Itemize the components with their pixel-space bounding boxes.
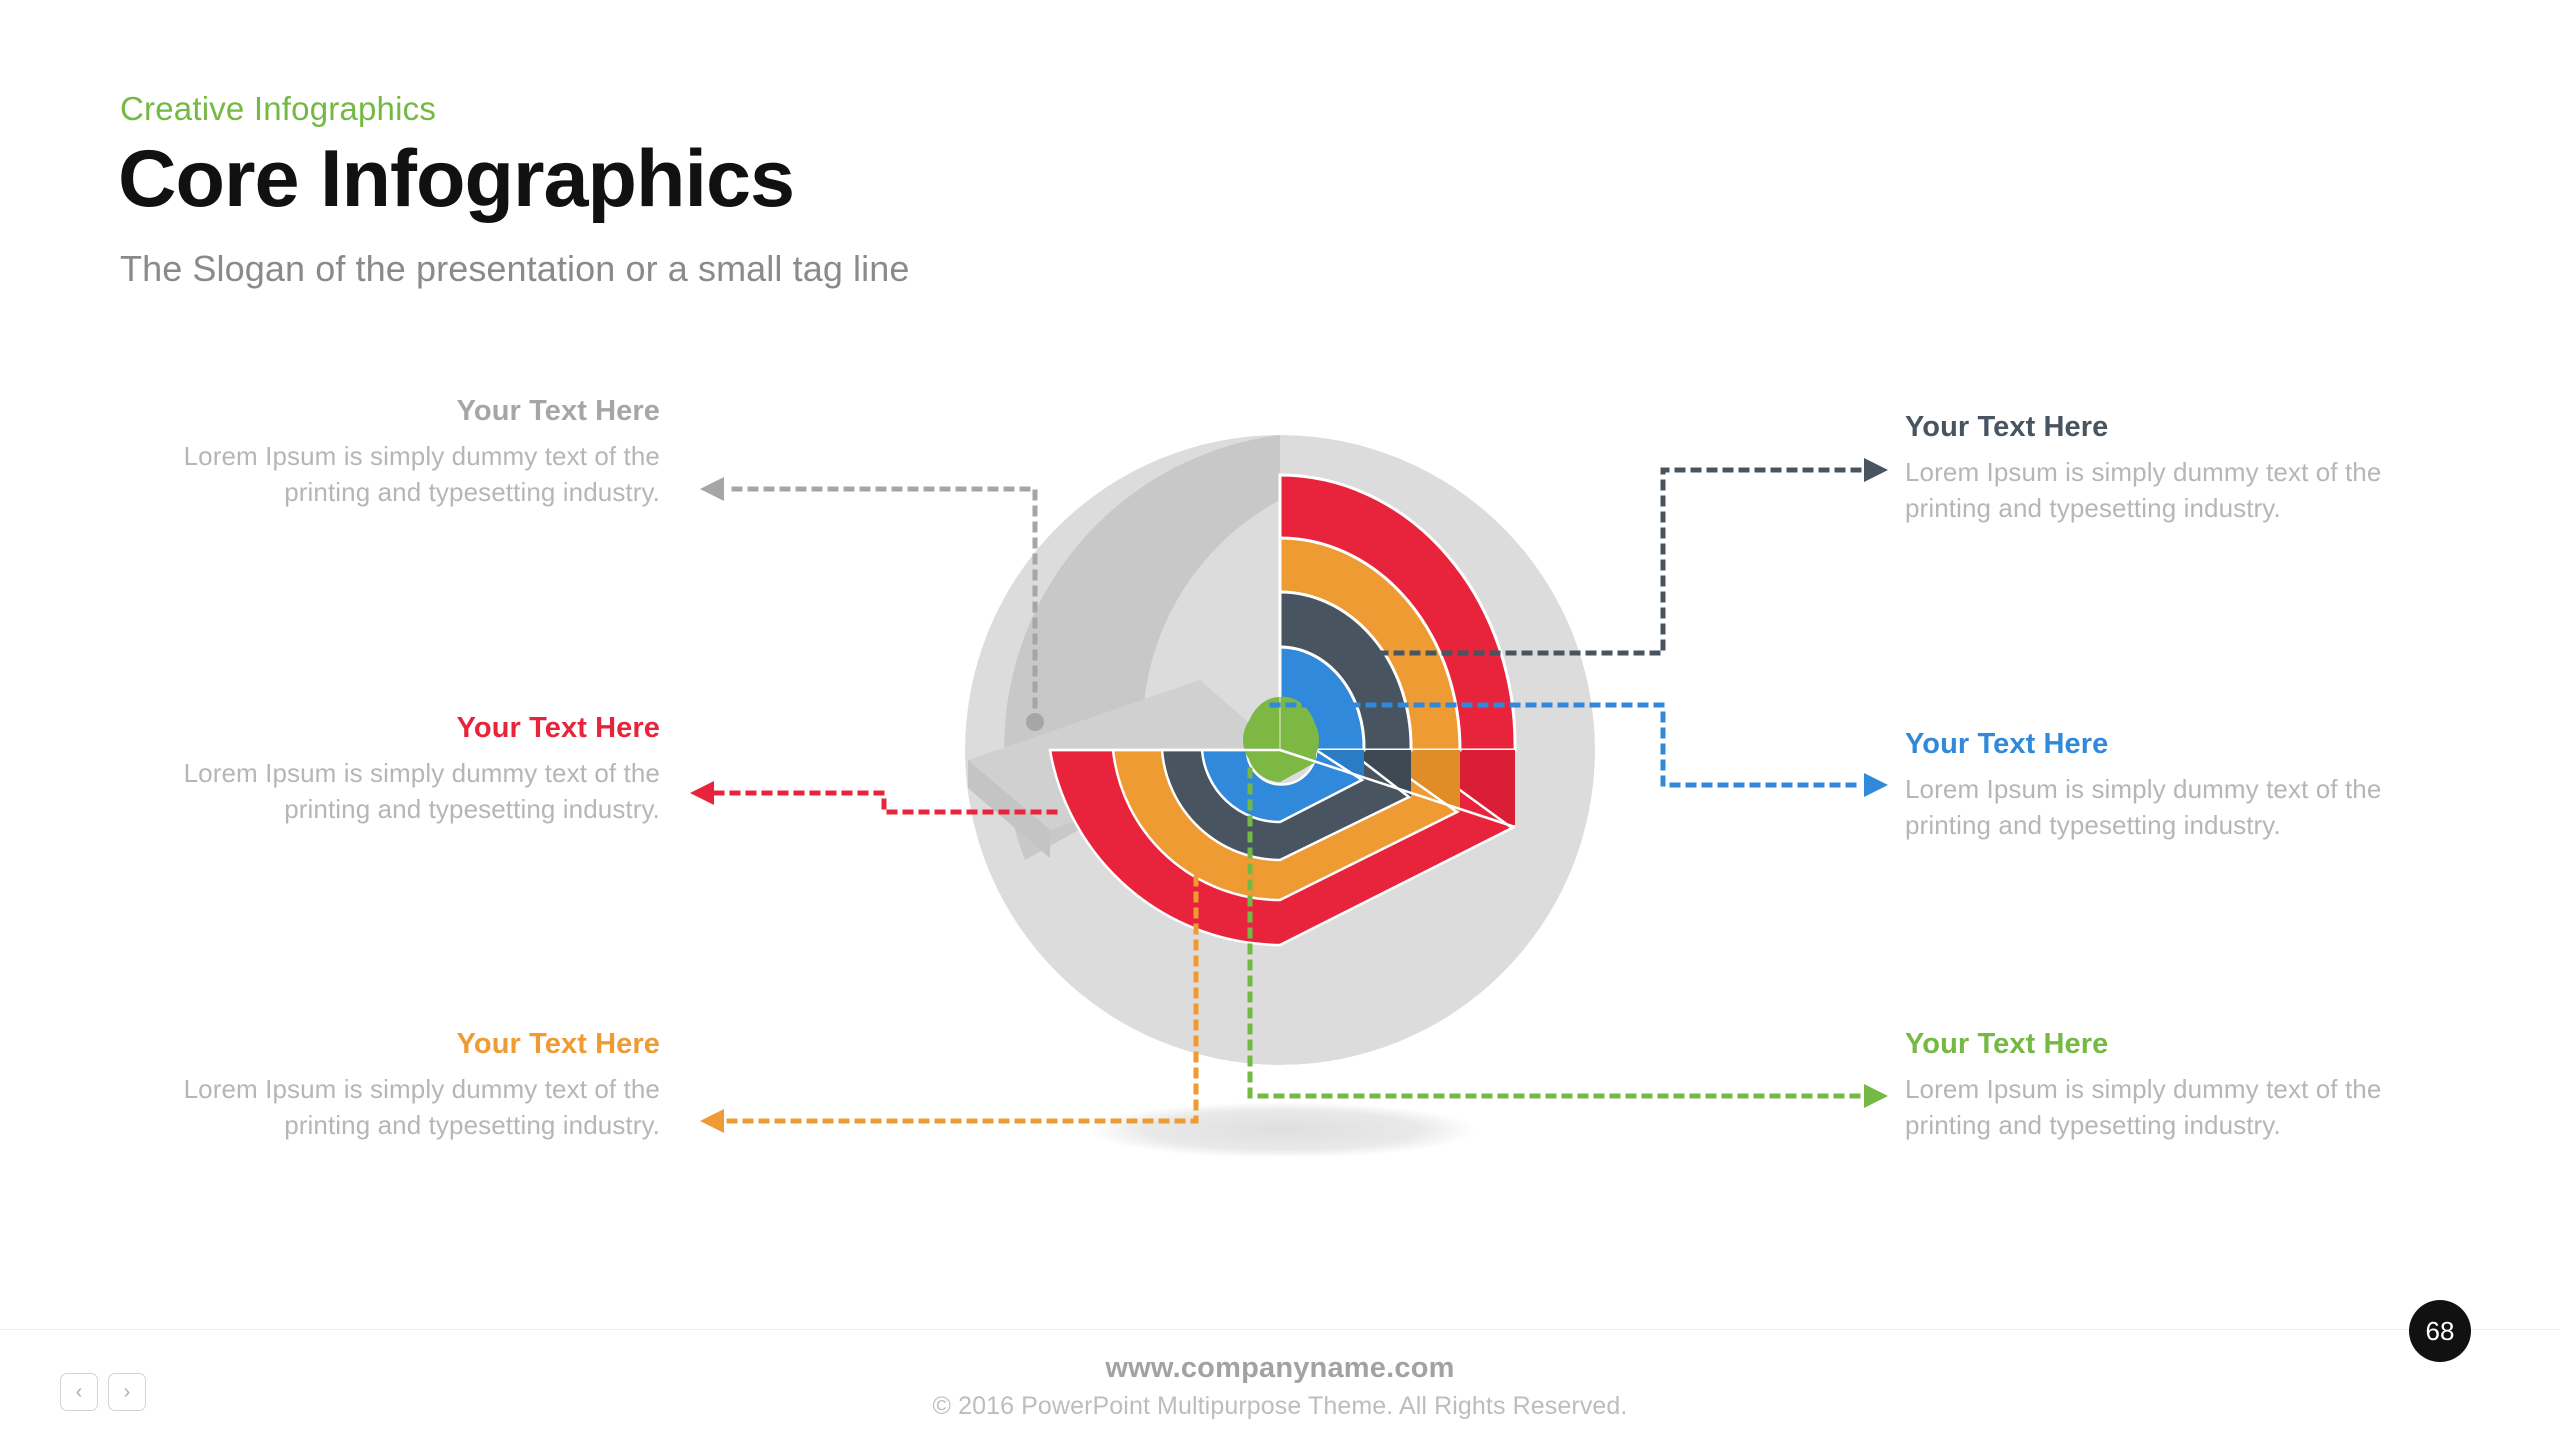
text-block-top-right: Your Text Here Lorem Ipsum is simply dum… (1905, 412, 2405, 526)
text-block-bottom-right: Your Text Here Lorem Ipsum is simply dum… (1905, 1029, 2405, 1143)
text-block-top-left: Your Text Here Lorem Ipsum is simply dum… (160, 396, 660, 510)
connector-top-right (1332, 458, 1888, 653)
block-body: Lorem Ipsum is simply dummy text of the … (160, 1072, 660, 1143)
text-block-middle-right: Your Text Here Lorem Ipsum is simply dum… (1905, 729, 2405, 843)
footer-copyright: © 2016 PowerPoint Multipurpose Theme. Al… (0, 1392, 2560, 1421)
page-number-badge: 68 (2409, 1300, 2471, 1362)
footer-divider (0, 1329, 2560, 1330)
footer-website: www.companyname.com (0, 1352, 2560, 1385)
text-block-bottom-left: Your Text Here Lorem Ipsum is simply dum… (160, 1029, 660, 1143)
connector-top-left (700, 477, 1044, 731)
connector-middle-right (1272, 705, 1888, 797)
text-block-middle-left: Your Text Here Lorem Ipsum is simply dum… (160, 713, 660, 827)
block-heading: Your Text Here (1905, 1029, 2405, 1061)
prev-slide-button[interactable]: ‹ (60, 1373, 98, 1411)
block-heading: Your Text Here (160, 1029, 660, 1061)
block-body: Lorem Ipsum is simply dummy text of the … (160, 439, 660, 510)
block-heading: Your Text Here (160, 713, 660, 745)
connector-bottom-right (1250, 770, 1888, 1108)
block-body: Lorem Ipsum is simply dummy text of the … (1905, 772, 2405, 843)
block-heading: Your Text Here (160, 396, 660, 428)
block-heading: Your Text Here (1905, 729, 2405, 761)
next-slide-button[interactable]: › (108, 1373, 146, 1411)
connector-bottom-left (700, 862, 1196, 1133)
block-heading: Your Text Here (1905, 412, 2405, 444)
block-body: Lorem Ipsum is simply dummy text of the … (160, 756, 660, 827)
block-body: Lorem Ipsum is simply dummy text of the … (1905, 455, 2405, 526)
connector-middle-left (690, 781, 1055, 812)
block-body: Lorem Ipsum is simply dummy text of the … (1905, 1072, 2405, 1143)
